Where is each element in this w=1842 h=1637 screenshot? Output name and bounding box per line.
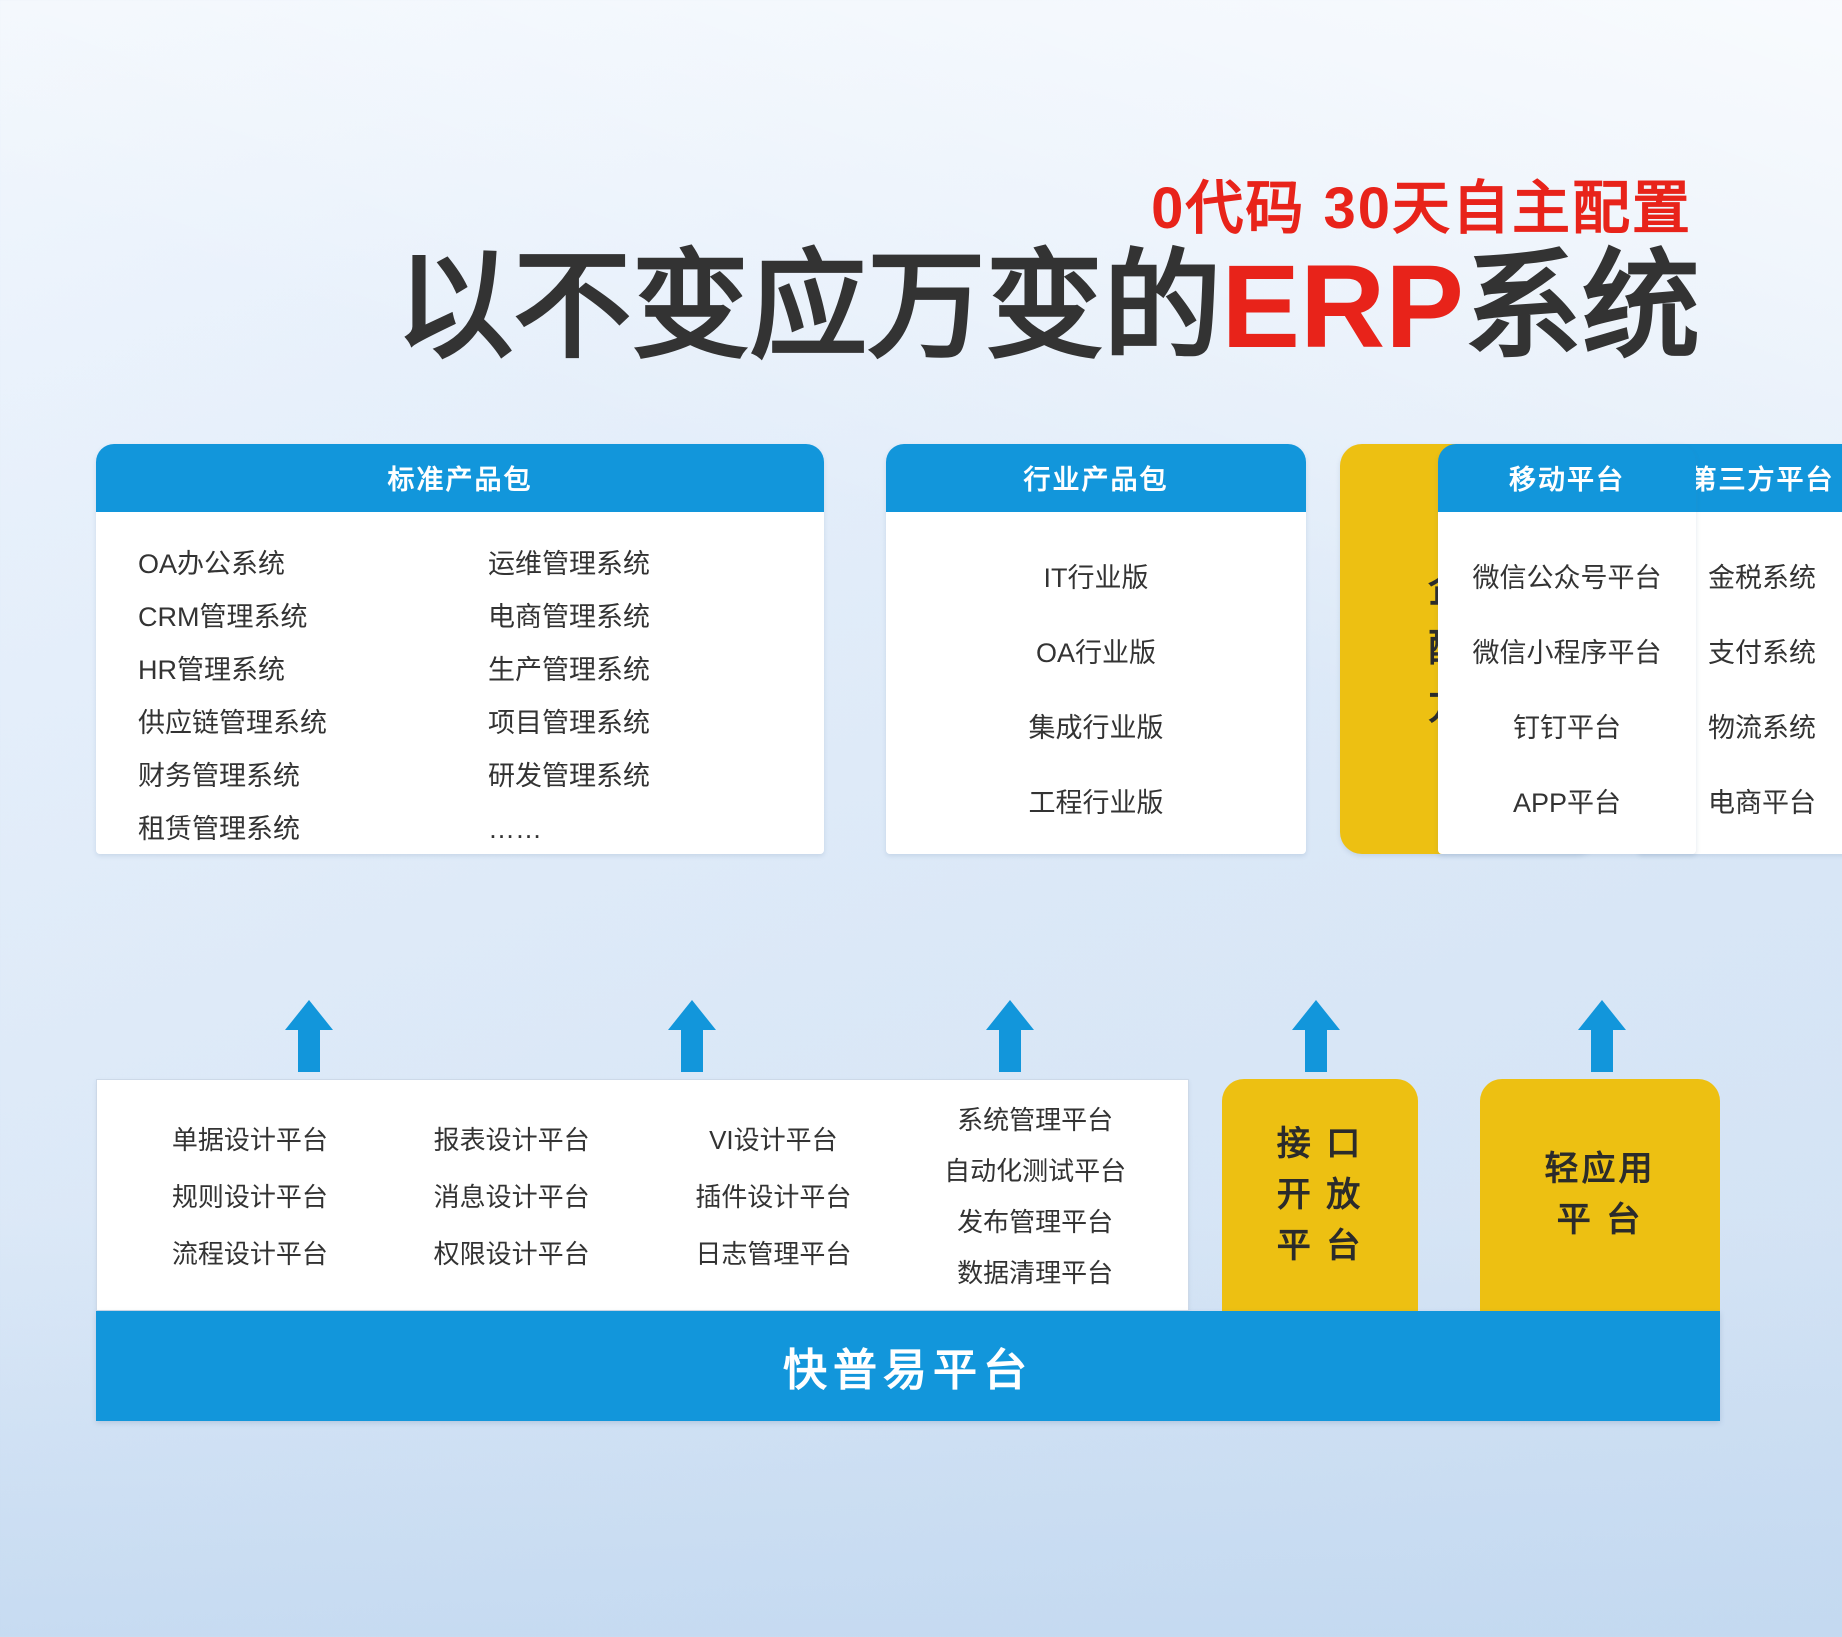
list-item[interactable]: 权限设计平台 (434, 1224, 590, 1281)
card-industry-product-pack[interactable]: 行业产品包 IT行业版 OA行业版 集成行业版 工程行业版 制造行业版 (886, 444, 1306, 854)
light-app-platform-line-1: 轻应用 (1545, 1144, 1656, 1195)
page-title: 以不变应万变的ERP系统 (0, 248, 1700, 366)
list-item[interactable]: 流程设计平台 (172, 1224, 328, 1281)
list-item[interactable]: 插件设计平台 (695, 1167, 851, 1224)
list-item[interactable]: 生产管理系统 (460, 644, 782, 697)
list-item[interactable]: HR管理系统 (138, 644, 460, 697)
list-item[interactable]: OA行业版 (886, 613, 1306, 688)
list-item[interactable]: 规则设计平台 (172, 1167, 328, 1224)
box-api-open-platform[interactable]: 接 口 开 放 平 台 (1222, 1079, 1418, 1311)
card-header-mobile: 移动平台 (1438, 444, 1696, 512)
box-light-app-platform[interactable]: 轻应用 平 台 (1480, 1079, 1720, 1311)
card-standard-product-pack[interactable]: 标准产品包 OA办公系统 运维管理系统 CRM管理系统 电商管理系统 HR管理系… (96, 444, 824, 854)
list-item[interactable]: CRM管理系统 (138, 591, 460, 644)
list-item[interactable]: 发布管理平台 (957, 1195, 1113, 1246)
design-platform-panel: 单据设计平台 规则设计平台 流程设计平台 报表设计平台 消息设计平台 权限设计平… (96, 1079, 1189, 1311)
platform-column-3: VI设计平台 插件设计平台 日志管理平台 (643, 1110, 905, 1281)
list-item[interactable]: 财务管理系统 (138, 750, 460, 803)
mobile-item-list: 微信公众号平台 微信小程序平台 钉钉平台 APP平台 (1438, 538, 1696, 838)
card-body-standard: OA办公系统 运维管理系统 CRM管理系统 电商管理系统 HR管理系统 生产管理… (96, 512, 824, 854)
title-block: 0代码 30天自主配置 以不变应万变的ERP系统 (0, 180, 1700, 366)
kicker-text: 0代码 30天自主配置 (0, 180, 1700, 238)
list-item[interactable]: 日志管理平台 (695, 1224, 851, 1281)
platform-column-4: 系统管理平台 自动化测试平台 发布管理平台 数据清理平台 (904, 1093, 1166, 1297)
card-mobile-platform[interactable]: 移动平台 微信公众号平台 微信小程序平台 钉钉平台 APP平台 (1438, 444, 1696, 854)
list-item[interactable]: IT行业版 (886, 538, 1306, 613)
list-item[interactable]: 工程行业版 (886, 763, 1306, 838)
list-item[interactable]: 单据设计平台 (172, 1110, 328, 1167)
list-item[interactable]: 微信小程序平台 (1438, 613, 1696, 688)
list-item[interactable]: 集成行业版 (886, 688, 1306, 763)
list-item[interactable]: APP平台 (1438, 763, 1696, 838)
card-body-mobile: 微信公众号平台 微信小程序平台 钉钉平台 APP平台 (1438, 512, 1696, 854)
list-item[interactable]: 报表设计平台 (434, 1110, 590, 1167)
footer-platform-bar: 快普易平台 (96, 1311, 1720, 1421)
list-item[interactable]: 微信公众号平台 (1438, 538, 1696, 613)
list-item[interactable]: 电商管理系统 (460, 591, 782, 644)
list-item[interactable]: VI设计平台 (709, 1110, 838, 1167)
list-item[interactable]: 运维管理系统 (460, 538, 782, 591)
list-item[interactable]: 制造行业版 (886, 838, 1306, 854)
industry-item-list: IT行业版 OA行业版 集成行业版 工程行业版 制造行业版 (886, 538, 1306, 854)
list-item[interactable]: 数据清理平台 (957, 1246, 1113, 1297)
api-open-platform-line-3: 平 台 (1277, 1221, 1363, 1272)
api-open-platform-text: 接 口 开 放 平 台 (1277, 1119, 1363, 1272)
list-item[interactable]: 供应链管理系统 (138, 697, 460, 750)
headline-part2: 系统 (1464, 241, 1700, 373)
list-item: …… (460, 803, 782, 854)
headline-highlight: ERP (1221, 241, 1464, 373)
list-item[interactable]: 研发管理系统 (460, 750, 782, 803)
list-item[interactable]: 钉钉平台 (1438, 688, 1696, 763)
footer-platform-label: 快普易平台 (783, 1334, 1033, 1398)
list-item[interactable]: 系统管理平台 (957, 1093, 1113, 1144)
platform-column-2: 报表设计平台 消息设计平台 权限设计平台 (381, 1110, 643, 1281)
platform-columns: 单据设计平台 规则设计平台 流程设计平台 报表设计平台 消息设计平台 权限设计平… (97, 1080, 1188, 1310)
light-app-platform-line-2: 平 台 (1545, 1195, 1656, 1246)
list-item[interactable]: 消息设计平台 (434, 1167, 590, 1224)
list-item[interactable]: 租赁管理系统 (138, 803, 460, 854)
light-app-platform-text: 轻应用 平 台 (1545, 1144, 1656, 1246)
standard-item-grid: OA办公系统 运维管理系统 CRM管理系统 电商管理系统 HR管理系统 生产管理… (96, 538, 824, 854)
list-item[interactable]: OA办公系统 (138, 538, 460, 591)
api-open-platform-line-2: 开 放 (1277, 1170, 1363, 1221)
card-header-industry: 行业产品包 (886, 444, 1306, 512)
card-body-industry: IT行业版 OA行业版 集成行业版 工程行业版 制造行业版 (886, 512, 1306, 854)
headline-part1: 以不变应万变的 (395, 241, 1221, 373)
api-open-platform-line-1: 接 口 (1277, 1119, 1363, 1170)
list-item[interactable]: 项目管理系统 (460, 697, 782, 750)
card-header-standard: 标准产品包 (96, 444, 824, 512)
platform-column-1: 单据设计平台 规则设计平台 流程设计平台 (119, 1110, 381, 1281)
list-item[interactable]: 自动化测试平台 (944, 1144, 1126, 1195)
